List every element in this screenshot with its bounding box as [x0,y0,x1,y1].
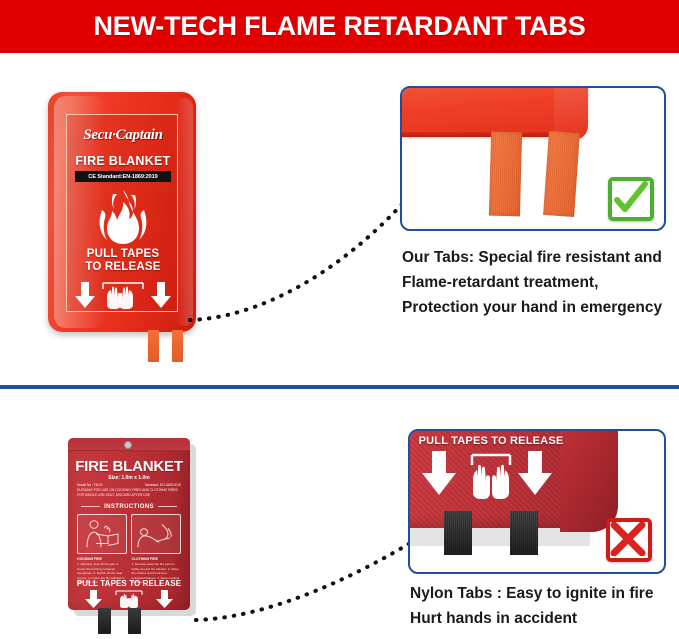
callout-nylon-tabs: PULL TAPES TO RELEASE [408,429,666,574]
brand-name-part2: C [116,127,126,144]
check-badge [608,177,654,221]
flame-icon [67,187,179,247]
section-divider [0,385,679,389]
black-tab-left [98,608,111,634]
case-body: Secu·Captain FIRE BLANKET CE Standard:EN… [48,92,196,332]
brand-name-part1: Secu [83,127,112,143]
header-banner: NEW-TECH FLAME RETARDANT TABS [0,0,679,53]
pull-arrow-diagram-bottom [68,589,190,609]
zoomed-arrow-diagram [416,449,566,511]
steps-clothing-title: CLOTHING FIRE [132,557,182,561]
certification-text: CE Standard:EN-1869:2019 [88,174,157,180]
pull-instruction-bottom: PULL TAPES TO RELEASE [68,579,190,588]
spec-disposal: FOR SINGLE USE ONLY. DISCARD AFTER USE [77,493,181,498]
zoomed-orange-tab-left [489,132,522,217]
black-tab-right [128,608,141,634]
instructions-heading: INSTRUCTIONS [77,502,181,511]
pictogram-clothing-fire [131,514,181,554]
instruction-pictograms [77,514,181,554]
product-title-bottom: FIRE BLANKET [68,458,190,475]
pouch-body: FIRE BLANKET Size: 1.0m x 1.0m Model No … [68,438,190,610]
zoomed-pull-text: PULL TAPES TO RELEASE [416,435,566,447]
zoomed-fabric-edge [560,429,618,532]
orange-tab-left [148,330,159,362]
pouch-grommet [124,441,132,449]
pull-line-2: TO RELEASE [67,261,179,274]
product-pouch-bottom: FIRE BLANKET Size: 1.0m x 1.0m Model No … [68,438,190,610]
caption-nylon-tabs: Nylon Tabs : Easy to ignite in fire Hurt… [410,581,676,631]
steps-cooking-title: COOKING FIRE [77,557,127,561]
pull-line-1: PULL TAPES [67,248,179,261]
brand-logo: Secu·Captain [67,127,179,144]
pull-arrow-diagram [67,278,179,310]
certification-band: CE Standard:EN-1869:2019 [75,171,171,182]
zoomed-black-tab-left [444,511,472,555]
product-spec-block: Model No : FB-01 Standard: EN 1869:2019 … [77,483,181,498]
product-infographic: NEW-TECH FLAME RETARDANT TABS Secu·Capta… [0,0,679,639]
zoomed-black-tab-right [510,511,538,555]
pictogram-cooking-fire [77,514,127,554]
cross-badge [606,518,652,562]
product-title-top: FIRE BLANKET [67,154,179,168]
case-label-panel: Secu·Captain FIRE BLANKET CE Standard:EN… [66,114,178,312]
zoomed-orange-tab-right [543,131,580,217]
connector-line-top [186,196,410,324]
connector-line-bottom [192,538,418,624]
brand-name-part3: aptain [125,127,162,143]
callout-good-tabs [400,86,666,231]
product-case-top: Secu·Captain FIRE BLANKET CE Standard:EN… [48,92,196,332]
caption-good-tabs: Our Tabs: Special fire resistant and Fla… [402,245,674,320]
instructions-heading-text: INSTRUCTIONS [104,504,154,510]
pull-instruction-top: PULL TAPES TO RELEASE [67,248,179,274]
product-size-label: Size: 1.0m x 1.0m [68,475,190,481]
orange-tab-right [172,330,183,362]
page-title: NEW-TECH FLAME RETARDANT TABS [93,11,585,42]
